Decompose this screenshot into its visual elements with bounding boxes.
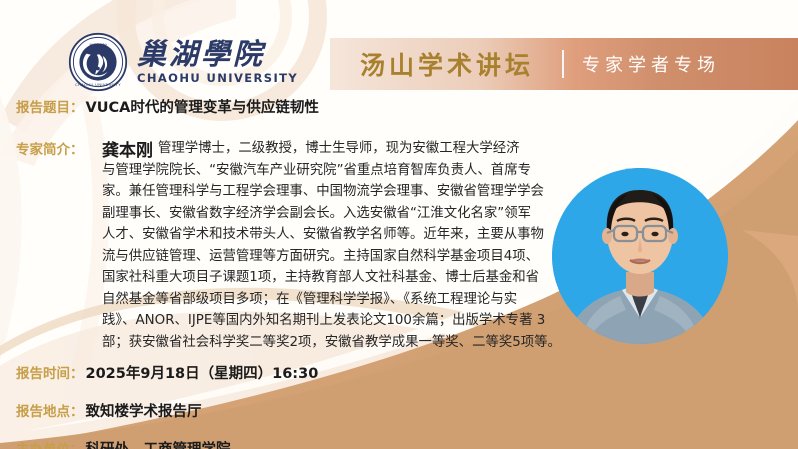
bio-line: 副理事长、安徽省数字经济学会副会长。入选安徽省“江淮文化名家”领军	[102, 203, 561, 225]
bio-line: 国家社科重大项目子课题1项，主持教育部人文社科基金、博士后基金和省	[102, 267, 561, 289]
report-time-label: 报告时间：	[16, 362, 84, 382]
lecture-series-banner: 汤山学术讲坛 专家学者专场	[330, 38, 798, 90]
report-title-row: 报告题目： VUCA时代的管理变革与供应链韧性	[16, 96, 319, 117]
speaker-bio-text: 管理学博士，二级教授，博士生导师，现为安徽工程大学经济 与管理学院院长、“安徽汽…	[102, 138, 561, 353]
seal-graphic: 巢湖学院 CHAOHU UNIVERSITY	[68, 32, 128, 92]
report-host-label: 主办单位：	[16, 438, 84, 449]
banner-subtitle: 专家学者专场	[582, 51, 720, 77]
report-host-value: 科研处、工商管理学院	[86, 438, 231, 449]
bio-line: 家。兼任管理科学与工程学会理事、中国物流学会理事、安徽省管理学学会	[102, 181, 561, 203]
speaker-portrait-image	[552, 168, 728, 344]
bio-line: 与管理学院院长、“安徽汽车产业研究院”省重点培育智库负责人、首席专	[102, 160, 561, 182]
speaker-bio-label: 专家简介：	[16, 138, 84, 158]
bio-line: 自然基金等省部级项目多项；在《管理科学学报》、《系统工程理论与实	[102, 289, 561, 311]
report-host-row: 主办单位： 科研处、工商管理学院	[16, 438, 318, 449]
report-place-value: 致知楼学术报告厅	[86, 400, 202, 421]
report-place-row: 报告地点： 致知楼学术报告厅	[16, 400, 318, 421]
report-title-label: 报告题目：	[16, 96, 84, 116]
bio-line: 管理学博士，二级教授，博士生导师，现为安徽工程大学经济	[102, 138, 561, 160]
bio-line: 部；获安徽省社会科学奖二等奖2项，安徽省教学成果一等奖、二等奖5项等。	[102, 332, 561, 354]
bio-line: 人才、安徽省学术和技术带头人、安徽省教学名师等。近年来，主要从事物	[102, 224, 561, 246]
banner-title: 汤山学术讲坛	[360, 46, 534, 82]
report-time-value: 2025年9月18日（星期四）16:30	[86, 362, 319, 383]
bio-line: 践》、ANOR、IJPE等国内外知名期刊上发表论文100余篇；出版学术专著 3	[102, 310, 561, 332]
university-branding: 巢湖学院 CHAOHU UNIVERSITY 巢湖學院 CHAOHU UNIVE…	[68, 32, 298, 92]
banner-divider	[562, 50, 564, 78]
university-name-block: 巢湖學院 CHAOHU UNIVERSITY	[137, 39, 298, 85]
bio-line: 流与供应链管理、运营管理等方面研究。主持国家自然科学基金项目4项、	[102, 246, 561, 268]
report-title-value: VUCA时代的管理变革与供应链韧性	[86, 96, 319, 117]
poster-header: 汤山学术讲坛 专家学者专场 巢湖学院 CHAOHU UNIVERSITY	[0, 0, 798, 96]
chaohu-university-seal-icon: 巢湖学院 CHAOHU UNIVERSITY	[68, 32, 128, 92]
poster-canvas: 汤山学术讲坛 专家学者专场 巢湖学院 CHAOHU UNIVERSITY	[0, 0, 798, 449]
report-time-row: 报告时间： 2025年9月18日（星期四）16:30	[16, 362, 318, 383]
event-details-block: 报告时间： 2025年9月18日（星期四）16:30 报告地点： 致知楼学术报告…	[16, 362, 318, 449]
report-place-label: 报告地点：	[16, 400, 84, 420]
university-name-en: CHAOHU UNIVERSITY	[137, 71, 298, 85]
svg-text:CHAOHU UNIVERSITY: CHAOHU UNIVERSITY	[75, 83, 121, 87]
university-name-cn: 巢湖學院	[137, 39, 265, 70]
speaker-portrait	[552, 168, 728, 344]
